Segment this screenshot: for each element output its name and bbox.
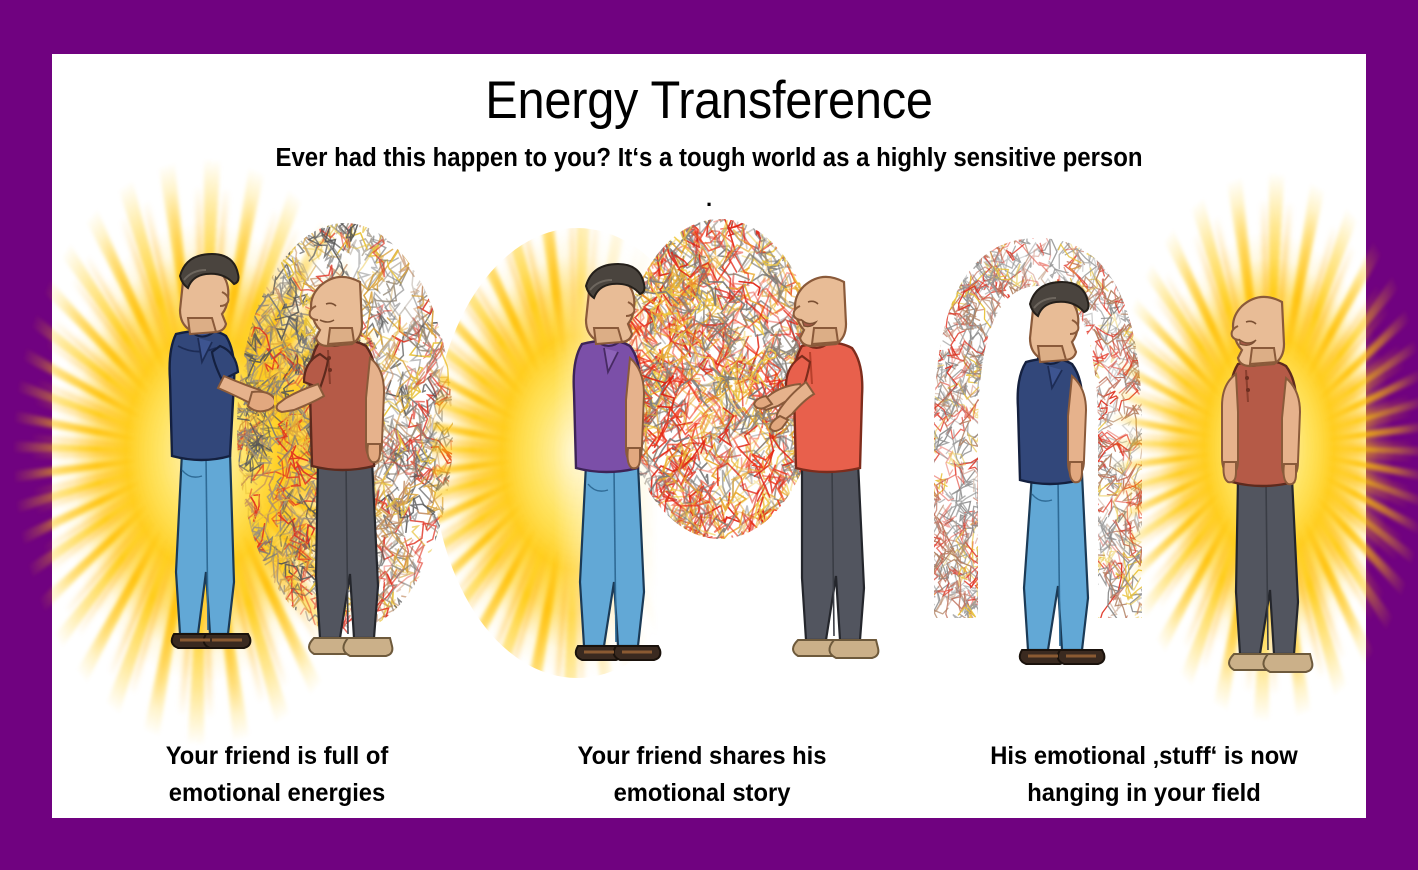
caption-line-2: emotional energies xyxy=(73,775,482,812)
figure-right-bald-man xyxy=(274,254,424,674)
caption-line-2: hanging in your field xyxy=(933,775,1355,812)
caption-line-1: His emotional ‚stuff‘ is now xyxy=(933,738,1355,775)
panel-handshake: Your friend is full of emotional energie… xyxy=(62,194,492,818)
page-title: Energy Transference xyxy=(105,70,1314,131)
scene-illustration-3 xyxy=(922,194,1366,694)
panel-caption: His emotional ‚stuff‘ is now hanging in … xyxy=(933,738,1355,812)
panel-caption: Your friend shares his emotional story xyxy=(503,738,902,812)
figure-left-navy-man xyxy=(976,272,1126,682)
figure-left-purple-man xyxy=(530,252,680,682)
page-subtitle: Ever had this happen to you? It‘s a toug… xyxy=(91,144,1326,173)
panel-caption: Your friend is full of emotional energie… xyxy=(73,738,482,812)
panel-row: Your friend is full of emotional energie… xyxy=(52,194,1366,818)
caption-line-2: emotional story xyxy=(503,775,902,812)
figure-right-bald-man xyxy=(1190,276,1340,686)
slide-canvas: Energy Transference Ever had this happen… xyxy=(52,54,1366,818)
panel-sharing-story: Your friend shares his emotional story xyxy=(492,194,912,818)
figure-left-navy-man xyxy=(124,242,274,672)
caption-line-1: Your friend is full of xyxy=(73,738,482,775)
panel-energy-transferred: His emotional ‚stuff‘ is now hanging in … xyxy=(922,194,1366,818)
scene-illustration-2 xyxy=(492,194,912,694)
figure-right-coral-man xyxy=(750,254,910,674)
caption-line-1: Your friend shares his xyxy=(503,738,902,775)
scene-illustration-1 xyxy=(62,194,492,694)
